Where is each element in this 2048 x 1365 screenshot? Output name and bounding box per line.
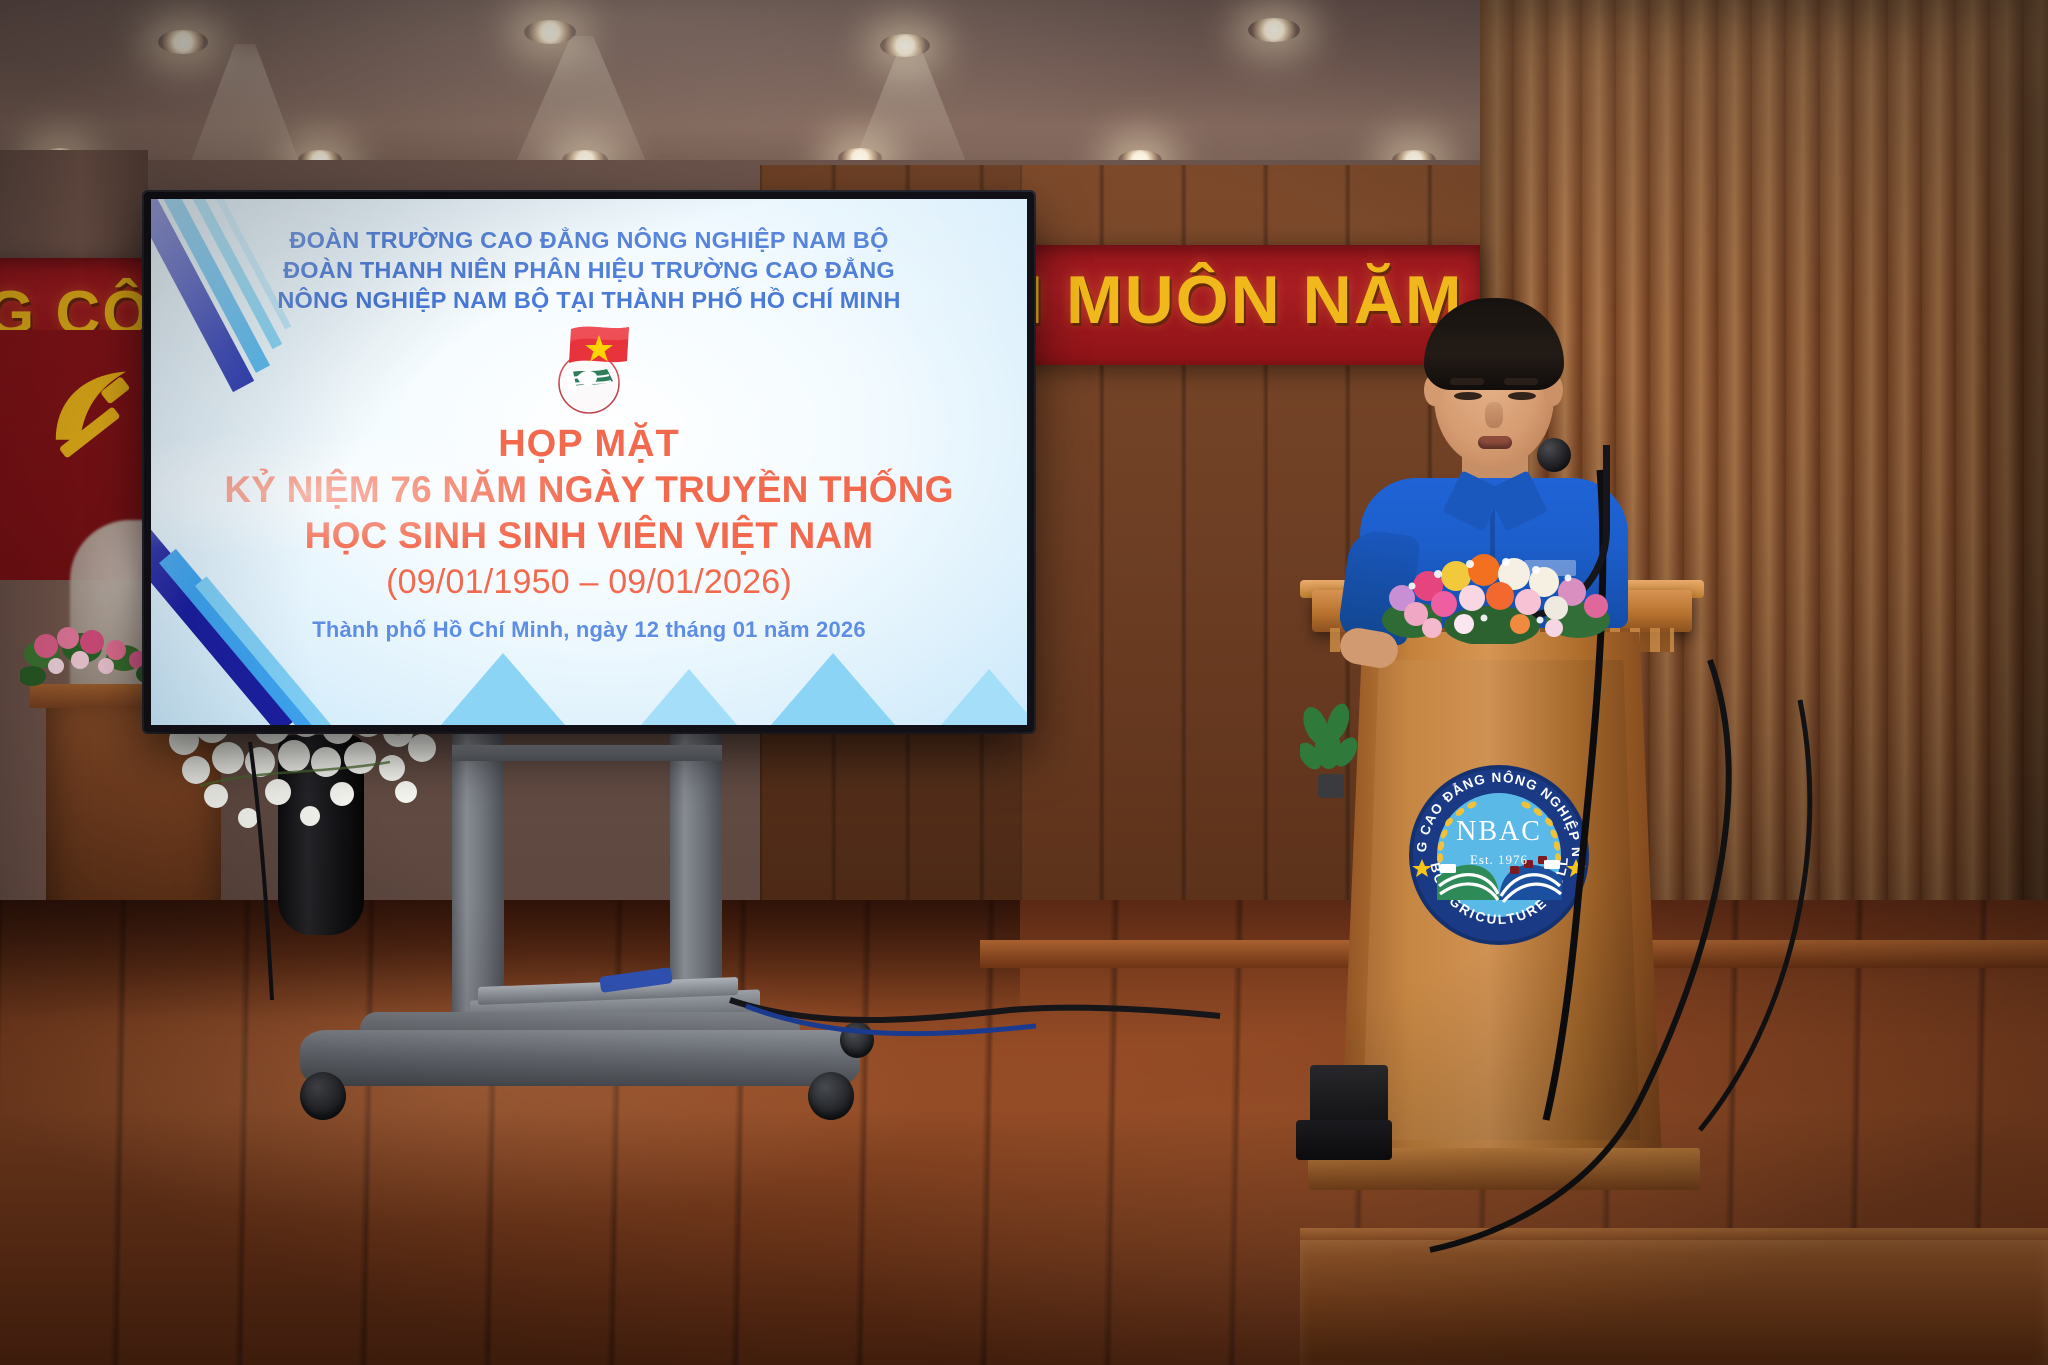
slide-title-line-1: HỌP MẶT bbox=[151, 421, 1027, 467]
slide-title-line-4: (09/01/1950 – 09/01/2026) bbox=[151, 559, 1027, 605]
eye-right bbox=[1508, 392, 1536, 400]
nose bbox=[1485, 402, 1503, 428]
seal-acronym: NBAC bbox=[1456, 816, 1542, 847]
tv-stand-crossbar bbox=[452, 745, 722, 761]
caster-wheel-right bbox=[808, 1072, 854, 1120]
downlight-2 bbox=[524, 20, 576, 44]
presentation-display[interactable]: ĐOÀN TRƯỜNG CAO ĐẲNG NÔNG NGHIỆP NAM BỘ … bbox=[144, 192, 1034, 732]
slide-header-line-2: ĐOÀN THANH NIÊN PHÂN HIỆU TRƯỜNG CAO ĐẲN… bbox=[151, 255, 1027, 285]
slide-title-line-3: HỌC SINH SINH VIÊN VIỆT NAM bbox=[151, 513, 1027, 559]
eye-left bbox=[1454, 392, 1482, 400]
floor-monitor-box bbox=[1310, 1065, 1388, 1127]
conference-hall-scene: G CỘNG H MUÔN NĂM bbox=[0, 0, 2048, 1365]
college-seal-emblem: TRƯỜNG CAO ĐẲNG NÔNG NGHIỆP NAM BỘ NAM B… bbox=[1404, 760, 1594, 950]
slide-triangle-1 bbox=[441, 653, 565, 725]
slide-triangle-4 bbox=[941, 669, 1027, 725]
stage-front-face bbox=[1300, 1240, 2048, 1365]
hair bbox=[1424, 298, 1564, 390]
tv-stand-base bbox=[300, 1030, 860, 1086]
caster-wheel-center bbox=[840, 1022, 874, 1058]
downlight-4 bbox=[1248, 18, 1300, 42]
hammer-sickle-icon bbox=[36, 354, 146, 464]
slide-footer: Thành phố Hồ Chí Minh, ngày 12 tháng 01 … bbox=[151, 617, 1027, 643]
youth-union-emblem-icon bbox=[537, 321, 641, 417]
eyebrow-left bbox=[1450, 378, 1484, 385]
slide-header-line-1: ĐOÀN TRƯỜNG CAO ĐẲNG NÔNG NGHIỆP NAM BỘ bbox=[151, 225, 1027, 255]
downlight-3 bbox=[880, 34, 930, 57]
microphone-capsule-icon bbox=[1537, 438, 1571, 472]
slide-header-line-3: NÔNG NGHIỆP NAM BỘ TẠI THÀNH PHỐ HỒ CHÍ … bbox=[151, 285, 1027, 315]
seal-established: Est. 1976 bbox=[1470, 852, 1528, 867]
slide-title-line-2: KỶ NIỆM 76 NĂM NGÀY TRUYỀN THỐNG bbox=[151, 467, 1027, 513]
slide-header: ĐOÀN TRƯỜNG CAO ĐẲNG NÔNG NGHIỆP NAM BỘ … bbox=[151, 225, 1027, 315]
downlight-1 bbox=[158, 30, 208, 54]
podium-flower-bouquet bbox=[1372, 534, 1622, 644]
slide-title: HỌP MẶT KỶ NIỆM 76 NĂM NGÀY TRUYỀN THỐNG… bbox=[151, 421, 1027, 605]
tv-screen: ĐOÀN TRƯỜNG CAO ĐẲNG NÔNG NGHIỆP NAM BỘ … bbox=[151, 199, 1027, 725]
eyebrow-right bbox=[1504, 378, 1538, 385]
green-plant bbox=[1300, 700, 1360, 800]
caster-wheel-left bbox=[300, 1072, 346, 1120]
slide-triangle-2 bbox=[641, 669, 737, 725]
floor-monitor-base bbox=[1296, 1120, 1392, 1160]
slide-triangle-3 bbox=[771, 653, 895, 725]
